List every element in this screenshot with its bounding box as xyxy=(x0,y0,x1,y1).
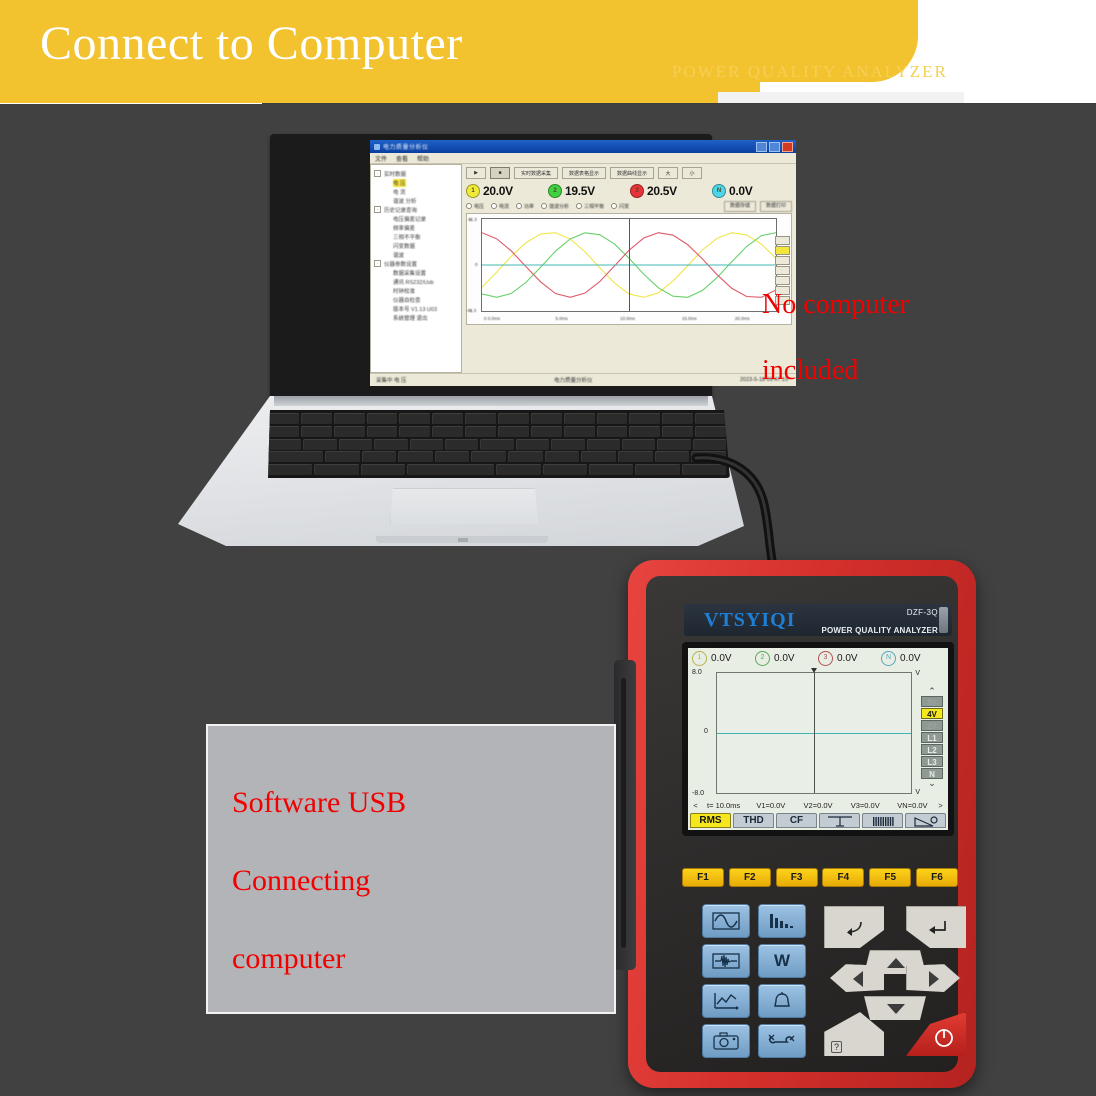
radio-current[interactable]: 电流 xyxy=(491,203,509,210)
reading-value: 19.5V xyxy=(565,184,595,198)
brand-name: VTSYIQI xyxy=(704,609,795,632)
keyboard-key xyxy=(589,464,633,475)
keyboard-key xyxy=(367,426,398,437)
lcd-menu-item-L2[interactable]: L2 xyxy=(921,744,943,755)
menu-item-file[interactable]: 文件 xyxy=(375,154,387,163)
tree-item[interactable]: -实时数据 xyxy=(374,169,458,178)
analyzer-top-connector-tab xyxy=(939,607,948,633)
lcd-tab-cf[interactable]: CF xyxy=(776,813,817,828)
lcd-y-mid: 0 xyxy=(704,728,708,735)
chart-side-button-0[interactable] xyxy=(775,236,790,245)
tree-item-label: 数据采集设置 xyxy=(393,269,426,277)
analyzer-keypad: W xyxy=(676,900,964,1064)
keyboard-row xyxy=(268,413,726,424)
mode-key-screenshot-camera[interactable] xyxy=(702,1024,750,1058)
keyboard-key xyxy=(635,464,679,475)
laptop-hinge xyxy=(274,396,708,406)
keyboard-key xyxy=(597,426,628,437)
lcd-channel-1: 10.0V xyxy=(692,651,755,666)
lcd-channel-badge-icon: 2 xyxy=(755,651,770,666)
radio-harmonics[interactable]: 谐波分析 xyxy=(541,203,569,210)
tree-item[interactable]: 谐波 分析 xyxy=(374,196,458,205)
radio-dot-icon xyxy=(576,203,582,209)
keyboard-key xyxy=(410,439,443,450)
keyboard-key xyxy=(508,451,543,462)
keyboard-key xyxy=(268,439,301,450)
keyboard-key xyxy=(622,439,655,450)
lcd-vertical-cursor[interactable] xyxy=(814,673,815,793)
mode-key-label: W xyxy=(774,951,790,971)
keyboard-key xyxy=(496,464,540,475)
keyboard-key xyxy=(471,451,506,462)
software-toolbar[interactable]: ▶■实时数据采集数据表格显示数据曲线显示大小 xyxy=(466,167,792,179)
down-key[interactable] xyxy=(864,996,928,1022)
harmonics-bar-icon xyxy=(767,911,797,931)
lcd-menu-item-2V[interactable]: 2V xyxy=(921,720,943,731)
lcd-graph-area: 8.0 0 -8.0 V V ⌃8V4V2VL1L2L3N⌄ xyxy=(692,668,944,798)
lcd-tab-bar[interactable]: RMSTHDCF xyxy=(688,813,948,830)
lcd-tab-thd[interactable]: THD xyxy=(733,813,774,828)
close-icon[interactable] xyxy=(782,142,793,152)
keyboard-key xyxy=(334,413,365,424)
mode-key-trend-logger[interactable] xyxy=(702,984,750,1018)
lcd-channel-N: N0.0V xyxy=(881,651,944,666)
status-left: 采集中 电 压 xyxy=(376,376,407,384)
channel-indicator-icon: 1 xyxy=(466,184,480,198)
header-watermark: POWER QUALITY ANALYZER xyxy=(672,62,948,82)
model-block: DZF-3Q POWER QUALITY ANALYZER xyxy=(821,602,938,638)
software-body: -实时数据电 压电 流谐波 分析-历史记录查询电压偏差记录频率偏差三相不平衡闪变… xyxy=(370,164,796,373)
tree-item[interactable]: 闪变数据 xyxy=(374,241,458,250)
cursor-icon xyxy=(825,815,855,827)
keyboard-key xyxy=(268,426,299,437)
tree-item[interactable]: -历史记录查询 xyxy=(374,205,458,214)
tree-item-label: 电压偏差记录 xyxy=(393,215,426,223)
tree-item-label: 仪器自检查 xyxy=(393,296,421,304)
minimize-icon[interactable] xyxy=(756,142,767,152)
enter-arrow-icon xyxy=(926,920,948,936)
menu-item-help[interactable]: 帮助 xyxy=(417,154,429,163)
back-arrow-icon xyxy=(844,919,866,937)
keyboard-key xyxy=(399,413,430,424)
page-title: Connect to Computer xyxy=(40,16,463,71)
reading-channel-3: 320.5V xyxy=(630,184,710,198)
tree-item-label: 仪器参数设置 xyxy=(384,260,417,268)
lcd-readout-bar: < t= 10.0ms V1=0.0V V2=0.0V V3=0.0V VN=0… xyxy=(688,798,948,813)
x-tick-0: 0 0.0ms xyxy=(484,316,500,321)
keyboard-key xyxy=(362,451,397,462)
lcd-channel-value: 0.0V xyxy=(774,653,795,664)
mode-key-grid[interactable]: W xyxy=(702,904,804,1056)
tree-item-label: 谐波 分析 xyxy=(393,197,417,205)
no-computer-note: No computer included xyxy=(762,272,1032,404)
software-status-bar: 采集中 电 压 电力质量分析仪 2023-5-18 09:47:15 xyxy=(370,373,796,386)
radio-dot-icon xyxy=(541,203,547,209)
toolbar-button-5[interactable]: 大 xyxy=(658,167,678,179)
lcd-screen[interactable]: 10.0V20.0V30.0VN0.0V 8.0 0 -8.0 V V ⌃8V4… xyxy=(688,648,948,830)
lcd-channel-3: 30.0V xyxy=(818,651,881,666)
laptop-base xyxy=(178,396,744,546)
waveform-cursor[interactable] xyxy=(629,219,630,311)
phasor-angle-icon xyxy=(911,815,941,827)
keyboard-key xyxy=(662,413,693,424)
keyboard-key xyxy=(657,439,690,450)
menu-item-view[interactable]: 查看 xyxy=(396,154,408,163)
tree-item-label: 谐波 xyxy=(393,251,404,259)
x-tick-2: 10.0ms xyxy=(620,316,635,321)
lcd-menu-item-L3[interactable]: L3 xyxy=(921,756,943,767)
radio-power[interactable]: 功率 xyxy=(516,203,534,210)
keyboard-key xyxy=(597,413,628,424)
keyboard-row xyxy=(268,451,726,462)
keyboard-key xyxy=(268,413,299,424)
channel-indicator-icon: 2 xyxy=(548,184,562,198)
keyboard-key xyxy=(367,413,398,424)
software-action-buttons[interactable]: 数据存储 数据打印 xyxy=(724,201,792,212)
tree-item[interactable]: 版本号 V1.13 U03 xyxy=(374,304,458,313)
reading-value: 20.0V xyxy=(483,184,513,198)
reading-value: 0.0V xyxy=(729,184,753,198)
keyboard-key xyxy=(695,426,726,437)
tree-item-label: 通讯 RS232/Usb xyxy=(393,278,434,286)
tree-item-label: 闪变数据 xyxy=(393,242,415,250)
radio-label: 三相平衡 xyxy=(584,203,604,210)
radio-dot-icon xyxy=(611,203,617,209)
mode-key-scope-waveform[interactable] xyxy=(702,904,750,938)
software-window-title: 电力质量分析仪 xyxy=(383,142,756,151)
tree-item[interactable]: 谐波 xyxy=(374,250,458,259)
lcd-channel-badge-icon: 3 xyxy=(818,651,833,666)
keyboard-key xyxy=(399,426,430,437)
radio-label: 电压 xyxy=(474,203,484,210)
channel-indicator-icon: N xyxy=(712,184,726,198)
function-key-f2[interactable]: F2 xyxy=(729,868,771,887)
readout-vn: VN=0.0V xyxy=(889,801,936,810)
radio-label: 功率 xyxy=(524,203,534,210)
chart-side-button-1[interactable] xyxy=(775,246,790,255)
lcd-unit-bottom: V xyxy=(915,789,920,796)
lcd-tab-label: RMS xyxy=(699,815,721,826)
mode-key-transient[interactable] xyxy=(702,944,750,978)
toolbar-button-4[interactable]: 数据曲线显示 xyxy=(610,167,654,179)
window-controls[interactable] xyxy=(756,142,793,152)
keyboard-key xyxy=(695,413,726,424)
keyboard-key xyxy=(655,451,690,462)
reading-channel-1: 120.0V xyxy=(466,184,546,198)
keyboard-key xyxy=(301,413,332,424)
lcd-y-top: 8.0 xyxy=(692,669,702,676)
function-key-row[interactable]: F1F2F3F4F5F6 xyxy=(682,868,958,886)
tree-item[interactable]: 仪器自检查 xyxy=(374,295,458,304)
enter-key[interactable] xyxy=(906,906,968,950)
keyboard-key xyxy=(543,464,587,475)
keyboard-row xyxy=(268,464,726,475)
trend-logger-icon xyxy=(711,991,741,1011)
waveform-chart-panel: 41.3 0 -41.3 V V 0 0.0ms 5.0ms 10.0ms 15… xyxy=(466,213,792,325)
keyboard-key xyxy=(531,413,562,424)
model-number: DZF-3Q xyxy=(907,608,938,617)
keyboard-key xyxy=(564,413,595,424)
readout-v1: V1=0.0V xyxy=(747,801,794,810)
lcd-channel-row: 10.0V20.0V30.0VN0.0V xyxy=(688,648,948,668)
lcd-channel-value: 0.0V xyxy=(900,653,921,664)
reading-channel-2: 219.5V xyxy=(548,184,628,198)
toolbar-button-0[interactable]: ▶ xyxy=(466,167,486,179)
harmonics-bars-icon xyxy=(868,815,898,827)
keyboard-key xyxy=(618,451,653,462)
laptop-screen: 电力质量分析仪 文件 查看 帮助 -实时数据电 压电 流谐波 分析-历史记录查询… xyxy=(370,140,796,386)
radio-voltage[interactable]: 电压 xyxy=(466,203,484,210)
software-usb-panel: Software USB Connecting computer xyxy=(206,724,616,1014)
power-icon xyxy=(933,1027,955,1049)
tree-item[interactable]: 电压偏差记录 xyxy=(374,214,458,223)
mode-key-harmonics-bar[interactable] xyxy=(758,904,806,938)
usb-note-line-3: computer xyxy=(232,920,614,998)
left-arrow-icon xyxy=(852,970,864,988)
lcd-menu-down-chevron-icon[interactable]: ⌄ xyxy=(928,780,936,787)
keyboard-key xyxy=(303,439,336,450)
power-quality-analyzer: VTSYIQI DZF-3Q POWER QUALITY ANALYZER 10… xyxy=(628,560,976,1088)
tree-expand-icon[interactable]: - xyxy=(374,260,381,267)
keyboard-key xyxy=(531,426,562,437)
readout-left-arrow-icon[interactable]: < xyxy=(691,801,700,810)
tree-expand-icon[interactable]: - xyxy=(374,206,381,213)
keyboard-key xyxy=(581,451,616,462)
lcd-unit-top: V xyxy=(915,670,920,677)
left-key[interactable] xyxy=(830,964,886,994)
toolbar-button-6[interactable]: 小 xyxy=(682,167,702,179)
readout-v3: V3=0.0V xyxy=(842,801,889,810)
lcd-bezel: 10.0V20.0V30.0VN0.0V 8.0 0 -8.0 V V ⌃8V4… xyxy=(682,642,954,836)
keyboard-key xyxy=(465,413,496,424)
tree-item[interactable]: 电 流 xyxy=(374,187,458,196)
help-key-label: ? xyxy=(831,1041,842,1053)
keyboard-key xyxy=(587,439,620,450)
print-data-button[interactable]: 数据打印 xyxy=(760,201,792,212)
toolbar-button-3[interactable]: 数据表格显示 xyxy=(562,167,606,179)
function-key-f3[interactable]: F3 xyxy=(776,868,818,887)
chart-side-button-2[interactable] xyxy=(775,256,790,265)
function-key-f6[interactable]: F6 xyxy=(916,868,958,887)
lcd-channel-badge-icon: N xyxy=(881,651,896,666)
mode-key-alarm-bell[interactable] xyxy=(758,984,806,1018)
keyboard-key xyxy=(545,451,580,462)
tree-item-label: 系统管理 退出 xyxy=(393,314,428,322)
keyboard-key xyxy=(480,439,513,450)
lcd-channel-value: 0.0V xyxy=(711,653,732,664)
radio-label: 闪变 xyxy=(619,203,629,210)
x-tick-4: 20.0ms xyxy=(735,316,750,321)
keyboard-key xyxy=(662,426,693,437)
tree-item-label: 时钟校准 xyxy=(393,287,415,295)
software-main-pane: ▶■实时数据采集数据表格显示数据曲线显示大小 120.0V219.5V320.5… xyxy=(462,164,796,373)
keyboard-key xyxy=(432,426,463,437)
lcd-menu-item-L1[interactable]: L1 xyxy=(921,732,943,743)
software-radio-row[interactable]: 电压 电流 功率 谐波分析 三相平衡 闪变 数据存储 数据打印 xyxy=(466,201,792,211)
keyboard-key xyxy=(334,426,365,437)
tree-item[interactable]: 系统管理 退出 xyxy=(374,313,458,322)
keyboard-row xyxy=(268,439,726,450)
keyboard-key xyxy=(445,439,478,450)
navigation-tree[interactable]: -实时数据电 压电 流谐波 分析-历史记录查询电压偏差记录频率偏差三相不平衡闪变… xyxy=(370,164,462,373)
lcd-channel-2: 20.0V xyxy=(755,651,818,666)
keyboard-key xyxy=(516,439,549,450)
keyboard-key xyxy=(325,451,360,462)
lcd-menu-up-chevron-icon[interactable]: ⌃ xyxy=(928,688,936,695)
unit-top-label: V xyxy=(469,217,784,222)
tree-item[interactable]: 电 压 xyxy=(374,178,458,187)
keyboard-key xyxy=(361,464,405,475)
lcd-tab-rms[interactable]: RMS xyxy=(690,813,731,828)
software-title-bar: 电力质量分析仪 xyxy=(370,140,796,153)
screenshot-camera-icon xyxy=(711,1031,741,1051)
page-header: Connect to Computer POWER QUALITY ANALYZ… xyxy=(0,0,1096,104)
keyboard-key xyxy=(301,426,332,437)
lcd-menu-item-8V[interactable]: 8V xyxy=(921,696,943,707)
keyboard-key xyxy=(407,464,495,475)
lcd-tab-cursor-icon[interactable] xyxy=(819,813,860,828)
navigation-key-cluster: ? xyxy=(824,900,964,1062)
lcd-cursor-marker-icon xyxy=(811,668,817,673)
tree-item-label: 电 流 xyxy=(393,188,406,196)
laptop-trackpad xyxy=(390,488,540,526)
save-data-button[interactable]: 数据存储 xyxy=(724,201,756,212)
lcd-channel-badge-icon: 1 xyxy=(692,651,707,666)
radio-dot-icon xyxy=(466,203,472,209)
tree-item[interactable]: 三相不平衡 xyxy=(374,232,458,241)
radio-flicker[interactable]: 闪变 xyxy=(611,203,629,210)
laptop-illustration: 电力质量分析仪 文件 查看 帮助 -实时数据电 压电 流谐波 分析-历史记录查询… xyxy=(178,134,744,546)
keyboard-key xyxy=(498,426,529,437)
radio-dot-icon xyxy=(516,203,522,209)
waveform-plot-area: 41.3 0 -41.3 V V 0 0.0ms 5.0ms 10.0ms 15… xyxy=(481,218,777,312)
maximize-icon[interactable] xyxy=(769,142,780,152)
tree-item[interactable]: 通讯 RS232/Usb xyxy=(374,277,458,286)
unit-bottom-label: V xyxy=(469,308,784,313)
tree-item[interactable]: 时钟校准 xyxy=(374,286,458,295)
lcd-channel-value: 0.0V xyxy=(837,653,858,664)
keyboard-key xyxy=(339,439,372,450)
app-icon xyxy=(374,144,380,150)
tree-item-label: 频率偏差 xyxy=(393,224,415,232)
right-key[interactable] xyxy=(906,964,962,994)
right-arrow-icon xyxy=(928,970,940,988)
readout-time: t= 10.0ms xyxy=(700,801,747,810)
tree-item-label: 三相不平衡 xyxy=(393,233,421,241)
tree-expand-icon[interactable]: - xyxy=(374,170,381,177)
keyboard-key xyxy=(374,439,407,450)
analyzer-front-face: VTSYIQI DZF-3Q POWER QUALITY ANALYZER 10… xyxy=(646,576,958,1072)
readout-right-arrow-icon[interactable]: > xyxy=(936,801,945,810)
lcd-y-bottom: -8.0 xyxy=(692,790,704,797)
function-key-f1[interactable]: F1 xyxy=(682,868,724,887)
keyboard-key xyxy=(629,426,660,437)
keyboard-key xyxy=(551,439,584,450)
tree-item-label: 版本号 V1.13 U03 xyxy=(393,305,437,313)
analyzer-brand-plate: VTSYIQI DZF-3Q POWER QUALITY ANALYZER xyxy=(684,604,952,636)
lcd-tab-label: THD xyxy=(743,815,764,826)
analyzer-side-strap-inner xyxy=(621,678,626,948)
keyboard-key xyxy=(268,464,312,475)
tree-item[interactable]: 频率偏差 xyxy=(374,223,458,232)
usb-note-line-2: Connecting xyxy=(232,842,614,920)
function-key-f4[interactable]: F4 xyxy=(822,868,864,887)
setup-wrench-icon xyxy=(767,1031,797,1051)
lcd-tab-label: CF xyxy=(790,815,803,826)
down-arrow-icon xyxy=(886,1003,906,1015)
lcd-menu-item-4V[interactable]: 4V xyxy=(921,708,943,719)
status-center: 电力质量分析仪 xyxy=(554,376,593,384)
no-computer-note-line-1: No computer xyxy=(762,272,1032,338)
lcd-plot-box xyxy=(716,672,912,794)
toolbar-button-2[interactable]: 实时数据采集 xyxy=(514,167,558,179)
keyboard-row xyxy=(268,426,726,437)
laptop-lid: 电力质量分析仪 文件 查看 帮助 -实时数据电 压电 流谐波 分析-历史记录查询… xyxy=(270,134,712,398)
tree-item-label: 实时数据 xyxy=(384,170,406,178)
reading-channel-N: N0.0V xyxy=(712,184,792,198)
mode-key-setup-wrench[interactable] xyxy=(758,1024,806,1058)
keyboard-key xyxy=(629,413,660,424)
alarm-bell-icon xyxy=(767,991,797,1011)
laptop-front-latch xyxy=(458,538,468,542)
lcd-tab-harmonics-bars-icon[interactable] xyxy=(862,813,903,828)
usb-note-line-1: Software USB xyxy=(232,764,614,842)
tree-item-label: 历史记录查询 xyxy=(384,206,417,214)
function-key-f5[interactable]: F5 xyxy=(869,868,911,887)
reading-value: 20.5V xyxy=(647,184,677,198)
transient-icon xyxy=(711,951,741,971)
keyboard-key xyxy=(432,413,463,424)
keyboard-key xyxy=(435,451,470,462)
keyboard-key xyxy=(268,451,323,462)
x-tick-1: 5.0ms xyxy=(556,316,568,321)
keyboard-key xyxy=(398,451,433,462)
back-key[interactable] xyxy=(824,906,886,950)
readout-v2: V2=0.0V xyxy=(794,801,841,810)
keyboard-key xyxy=(465,426,496,437)
device-subtitle: POWER QUALITY ANALYZER xyxy=(821,626,938,635)
radio-label: 电流 xyxy=(499,203,509,210)
keyboard-key xyxy=(314,464,358,475)
tree-item[interactable]: -仪器参数设置 xyxy=(374,259,458,268)
radio-dot-icon xyxy=(491,203,497,209)
lcd-side-menu[interactable]: ⌃8V4V2VL1L2L3N⌄ xyxy=(920,688,944,787)
lcd-tab-phasor-angle-icon[interactable] xyxy=(905,813,946,828)
radio-balance[interactable]: 三相平衡 xyxy=(576,203,604,210)
software-menu-bar[interactable]: 文件 查看 帮助 xyxy=(370,153,796,164)
mode-key-power-watt[interactable]: W xyxy=(758,944,806,978)
channel-indicator-icon: 3 xyxy=(630,184,644,198)
no-computer-note-line-2: included xyxy=(762,338,1032,404)
keyboard-key xyxy=(564,426,595,437)
y-axis-mid-label: 0 xyxy=(475,262,478,267)
up-arrow-icon xyxy=(886,957,906,969)
tree-item-label: 电 压 xyxy=(393,179,406,187)
toolbar-button-1[interactable]: ■ xyxy=(490,167,510,179)
software-readings-row: 120.0V219.5V320.5VN0.0V xyxy=(466,181,792,201)
tree-item[interactable]: 数据采集设置 xyxy=(374,268,458,277)
x-tick-3: 15.0ms xyxy=(682,316,697,321)
radio-label: 谐波分析 xyxy=(549,203,569,210)
scope-waveform-icon xyxy=(711,911,741,931)
keyboard-key xyxy=(498,413,529,424)
laptop-keyboard xyxy=(264,410,730,478)
